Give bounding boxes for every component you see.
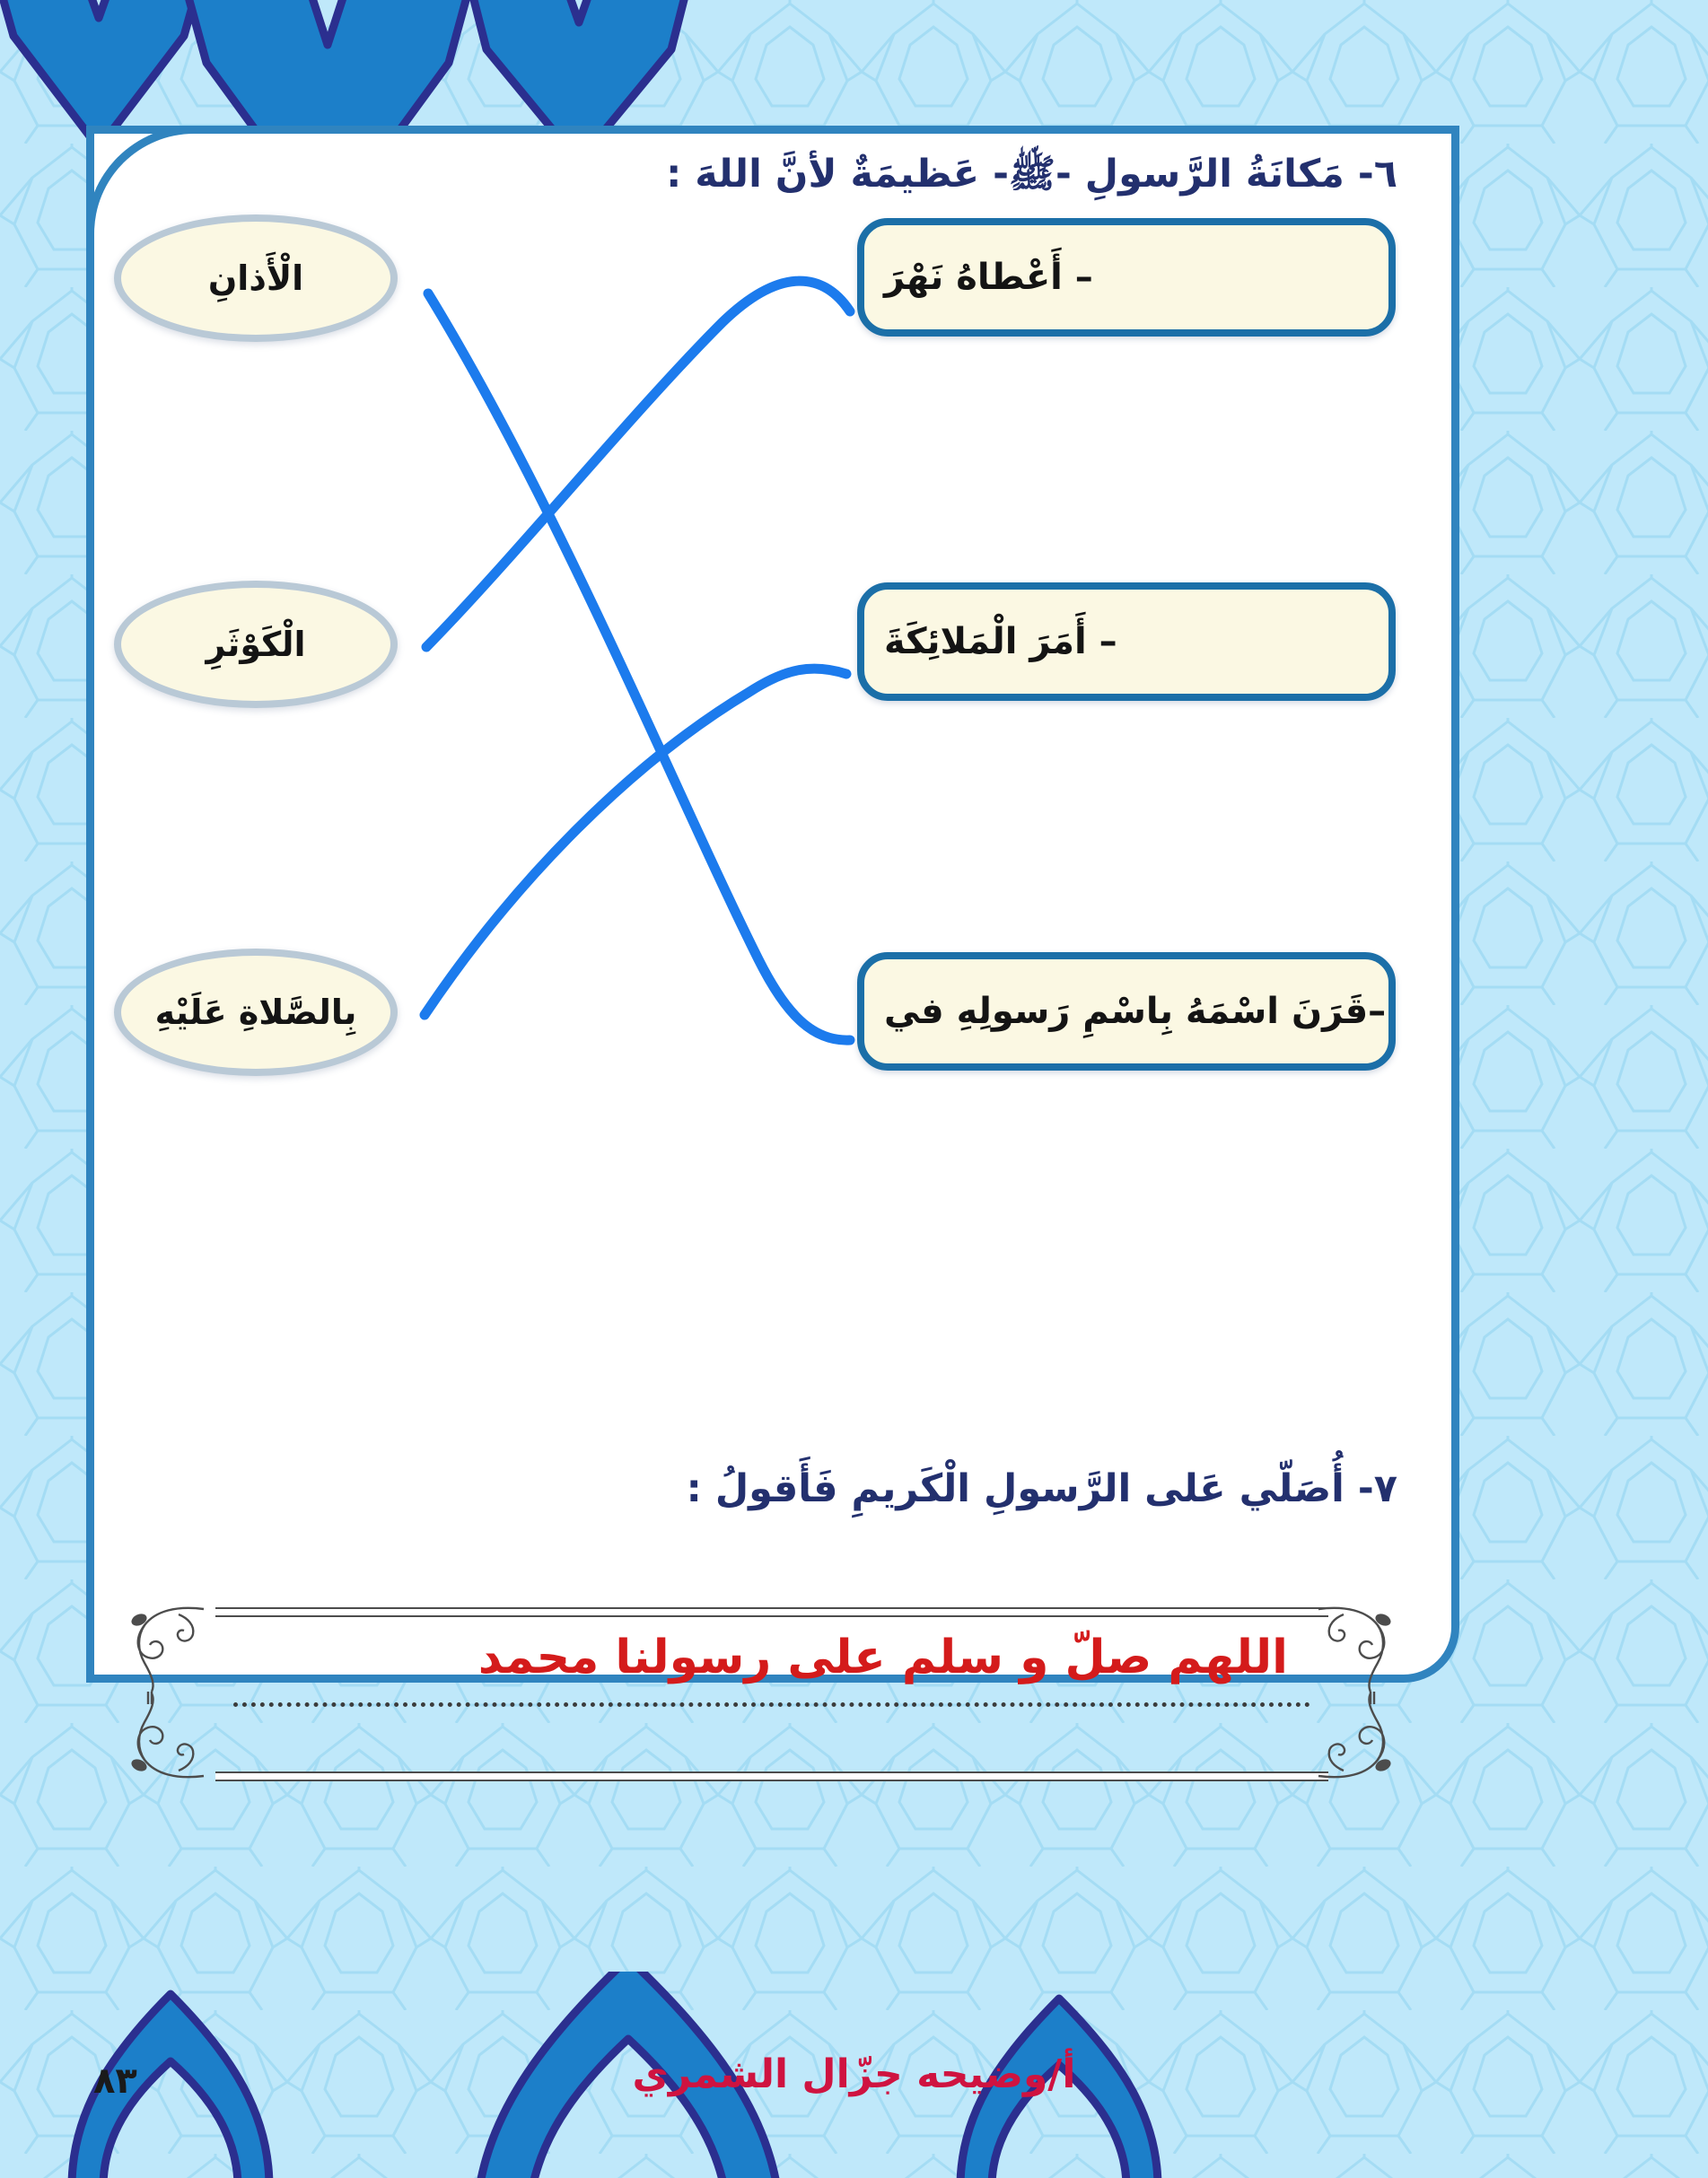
ornament-corner-left-icon xyxy=(121,1598,207,1787)
ornament-rule-top xyxy=(215,1607,1328,1617)
match-oval-3-label: بِالصَّلاةِ عَلَيْهِ xyxy=(155,993,357,1032)
worksheet-page-card: ٦- مَكانَةُ الرَّسولِ -ﷺ- عَظيمَةٌ لأنَّ… xyxy=(86,126,1459,1683)
match-oval-1[interactable]: الْأَذانِ xyxy=(114,214,398,342)
match-box-3[interactable]: –قَرَنَ اسْمَهُ بِاسْمِ رَسولِهِ في xyxy=(857,952,1396,1071)
match-oval-1-label: الْأَذانِ xyxy=(208,258,303,298)
match-box-2[interactable]: – أَمَرَ الْمَلائِكَةَ xyxy=(857,582,1396,701)
connector-box1-oval2 xyxy=(426,281,850,647)
connector-box3-oval1 xyxy=(428,293,850,1040)
worksheet-content: ٦- مَكانَةُ الرَّسولِ -ﷺ- عَظيمَةٌ لأنَّ… xyxy=(94,134,1451,1675)
ornament-corner-right-icon xyxy=(1315,1598,1401,1787)
connector-box2-oval3 xyxy=(425,669,846,1015)
match-box-2-label: – أَمَرَ الْمَلائِكَةَ xyxy=(884,621,1117,662)
match-oval-2[interactable]: الْكَوْثَرِ xyxy=(114,581,398,708)
matching-exercise: – أَعْطاهُ نَهْرَ – أَمَرَ الْمَلائِكَةَ… xyxy=(94,134,1451,1390)
match-box-1[interactable]: – أَعْطاهُ نَهْرَ xyxy=(857,218,1396,337)
ornament-rule-bottom xyxy=(215,1771,1328,1781)
match-oval-3[interactable]: بِالصَّلاةِ عَلَيْهِ xyxy=(114,949,398,1076)
answer-dotted-line xyxy=(233,1702,1310,1707)
question-7-heading: ٧- أُصَلّي عَلى الرَّسولِ الْكَريمِ فَأَ… xyxy=(687,1466,1397,1511)
footer-credit: أ/وضيحه جزّال الشمري xyxy=(0,2051,1708,2097)
match-box-3-label: –قَرَنَ اسْمَهُ بِاسْمِ رَسولِهِ في xyxy=(884,991,1386,1032)
handwritten-answer[interactable]: اللهم صلّ و سلم على رسولنا محمد xyxy=(478,1631,1288,1684)
answer-line-frame: اللهم صلّ و سلم على رسولنا محمد xyxy=(112,1588,1432,1812)
match-box-1-label: – أَعْطاهُ نَهْرَ xyxy=(884,257,1093,298)
match-oval-2-label: الْكَوْثَرِ xyxy=(206,625,305,664)
page-number: ٨٣ xyxy=(93,2060,137,2102)
